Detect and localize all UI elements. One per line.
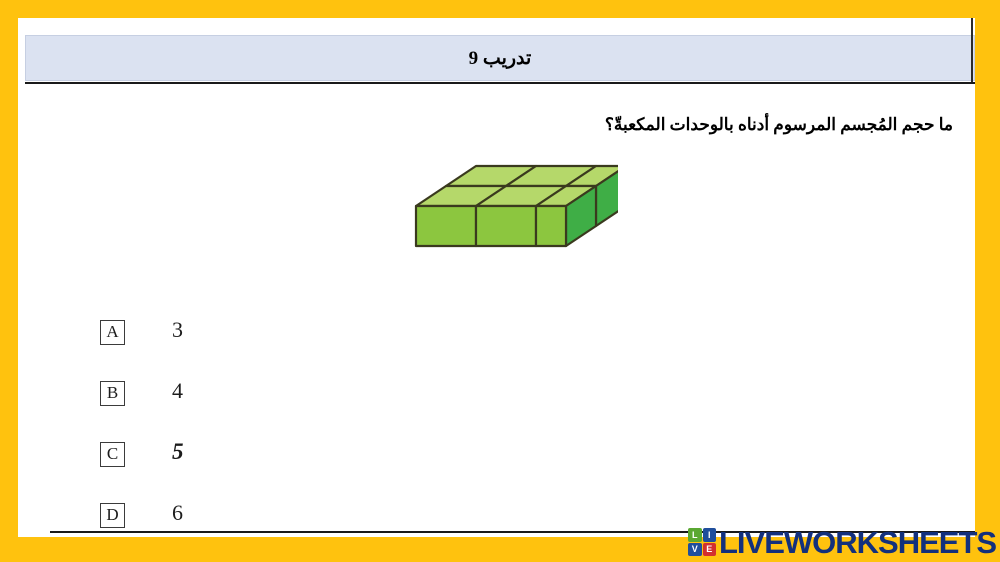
page-title: تدريب 9 bbox=[26, 47, 974, 70]
liveworksheets-wordmark: LIVEWORKSHEETS bbox=[719, 527, 996, 558]
liveworksheets-logo-icon: L I V E bbox=[688, 528, 716, 556]
header-right-divider bbox=[971, 18, 973, 82]
worksheet-page: تدريب 9 ما حجم المُجسم المرسوم أدناه بال… bbox=[0, 0, 1000, 562]
logo-tile-e: E bbox=[703, 543, 717, 557]
worksheet-sheet: تدريب 9 ما حجم المُجسم المرسوم أدناه بال… bbox=[18, 18, 975, 537]
option-letter-a[interactable]: A bbox=[100, 320, 125, 345]
cube-front-face bbox=[476, 206, 536, 246]
cube-stack-svg bbox=[408, 150, 618, 270]
option-value-b: 4 bbox=[172, 378, 183, 404]
liveworksheets-logo[interactable]: L I V E LIVEWORKSHEETS bbox=[688, 523, 996, 561]
cube-stack-figure bbox=[408, 150, 618, 270]
option-row-b[interactable]: B 4 bbox=[80, 371, 380, 432]
option-value-a: 3 bbox=[172, 317, 183, 343]
cube-front-face bbox=[536, 206, 566, 246]
option-value-c: 5 bbox=[172, 439, 184, 465]
answer-options-list: A 3 B 4 C 5 D 6 bbox=[80, 310, 380, 537]
option-value-d: 6 bbox=[172, 500, 183, 526]
exercise-title-bar: تدريب 9 bbox=[25, 35, 975, 81]
logo-tile-v: V bbox=[688, 543, 702, 557]
logo-tile-i: I bbox=[703, 528, 717, 542]
option-letter-b[interactable]: B bbox=[100, 381, 125, 406]
cube-front-face bbox=[416, 206, 476, 246]
question-prompt: ما حجم المُجسم المرسوم أدناه بالوحدات ال… bbox=[333, 114, 953, 136]
option-letter-d[interactable]: D bbox=[100, 503, 125, 528]
option-letter-c[interactable]: C bbox=[100, 442, 125, 467]
option-row-c[interactable]: C 5 bbox=[80, 432, 380, 493]
logo-tile-l: L bbox=[688, 528, 702, 542]
header-bottom-divider bbox=[25, 82, 975, 84]
option-row-a[interactable]: A 3 bbox=[80, 310, 380, 371]
